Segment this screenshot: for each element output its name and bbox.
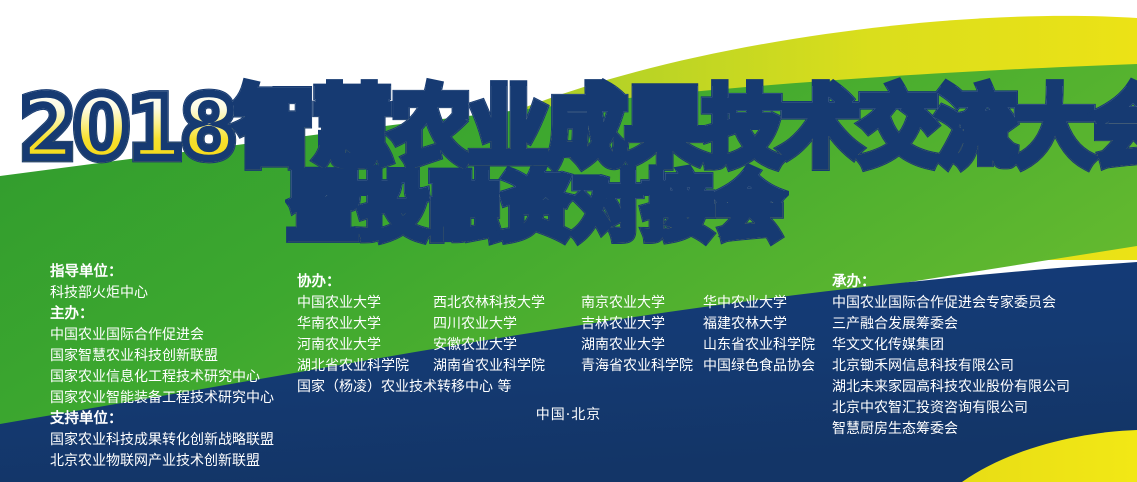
credits-column-left: 指导单位： 科技部火炬中心 主办： 中国农业国际合作促进会 国家智慧农业科技创新…	[50, 262, 274, 472]
credits-item: 国家农业信息化工程技术研究中心	[50, 367, 274, 388]
credits-item: 北京农业物联网产业技术创新联盟	[50, 451, 274, 472]
credits-item: 科技部火炬中心	[50, 283, 274, 304]
credits-item: 青海省农业科学院	[581, 356, 703, 377]
credits-item: 湖北未来家园高科技农业股份有限公司	[832, 377, 1070, 398]
credits-heading-host: 主办：	[50, 304, 274, 325]
credits-item: 国家智慧农业科技创新联盟	[50, 346, 274, 367]
credits-item: 吉林农业大学	[581, 314, 703, 335]
credits-heading-coorganizer: 协办：	[297, 272, 815, 293]
credits-item: 中国农业国际合作促进会专家委员会	[832, 293, 1070, 314]
credits-item: 安徽农业大学	[433, 335, 581, 356]
event-banner: 2018智慧农业成果技术交流大会 2018智慧农业成果技术交流大会 暨投融资对接…	[0, 0, 1137, 482]
event-location: 中国·北京	[0, 404, 1137, 424]
credits-item: 四川农业大学	[433, 314, 581, 335]
credits-item: 湖南省农业科学院	[433, 356, 581, 377]
coorganizer-grid: 中国农业大学 西北农林科技大学 南京农业大学 华中农业大学 华南农业大学 四川农…	[297, 293, 815, 377]
credits-item: 华南农业大学	[297, 314, 433, 335]
credits-item-tail: 国家（杨凌）农业技术转移中心 等	[297, 377, 815, 398]
credits-block: 指导单位： 科技部火炬中心 主办： 中国农业国际合作促进会 国家智慧农业科技创新…	[0, 0, 1137, 482]
credits-item: 中国绿色食品协会	[703, 356, 815, 377]
credits-item: 三产融合发展筹委会	[832, 314, 1070, 335]
credits-item: 湖南农业大学	[581, 335, 703, 356]
credits-item: 国家农业科技成果转化创新战略联盟	[50, 430, 274, 451]
credits-column-middle: 协办： 中国农业大学 西北农林科技大学 南京农业大学 华中农业大学 华南农业大学…	[297, 272, 815, 398]
credits-item: 山东省农业科学院	[703, 335, 815, 356]
credits-item: 河南农业大学	[297, 335, 433, 356]
credits-item: 北京锄禾网信息科技有限公司	[832, 356, 1070, 377]
credits-item: 华文文化传媒集团	[832, 335, 1070, 356]
credits-item: 西北农林科技大学	[433, 293, 581, 314]
credits-item: 湖北省农业科学院	[297, 356, 433, 377]
credits-heading-organizer: 承办：	[832, 272, 1070, 293]
credits-heading-guidance: 指导单位：	[50, 262, 274, 283]
credits-item: 中国农业国际合作促进会	[50, 325, 274, 346]
credits-item: 福建农林大学	[703, 314, 815, 335]
credits-item: 中国农业大学	[297, 293, 433, 314]
credits-item: 华中农业大学	[703, 293, 815, 314]
credits-item: 南京农业大学	[581, 293, 703, 314]
